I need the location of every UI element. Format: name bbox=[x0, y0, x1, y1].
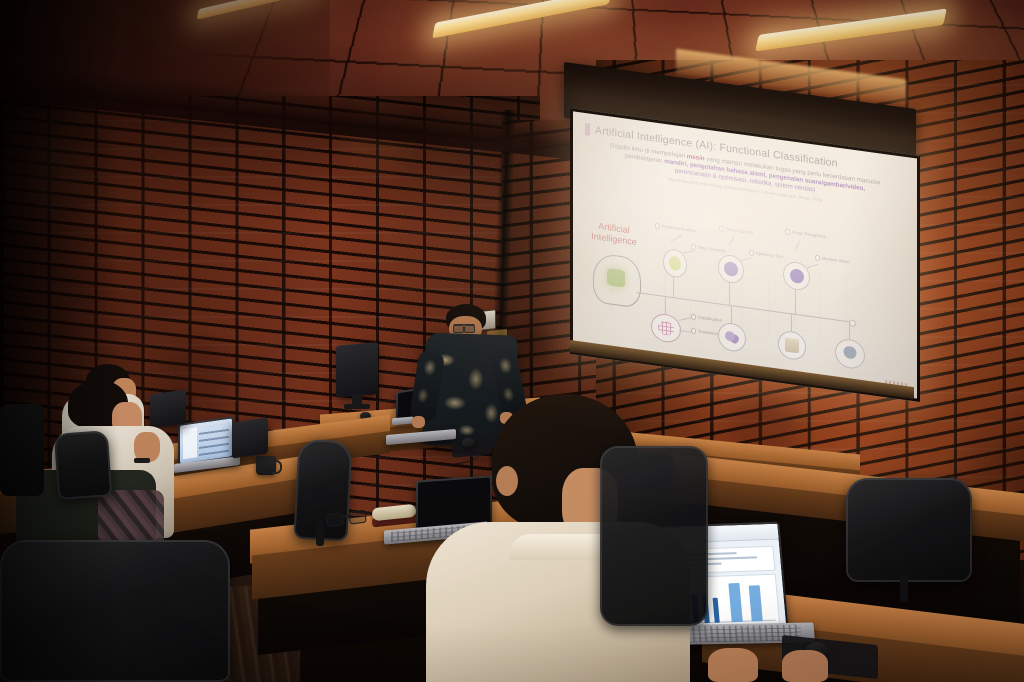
chair-stem bbox=[316, 520, 324, 546]
foreground-chair[interactable] bbox=[600, 446, 708, 626]
eyeglass-lens-right bbox=[348, 510, 366, 525]
presenter-glasses bbox=[453, 324, 475, 331]
bubble-fill bbox=[790, 268, 804, 284]
chair-rim bbox=[600, 446, 708, 626]
chair-rim bbox=[846, 478, 972, 582]
leaf-deep-learning: Deep Learning bbox=[691, 244, 725, 254]
leaf-bullet bbox=[815, 255, 820, 261]
leaf-bullet bbox=[691, 328, 696, 334]
leaf-predictive-analytics: Predictive Analytics bbox=[655, 223, 697, 234]
leaf-translation: Translation bbox=[691, 328, 718, 337]
bubble-fill bbox=[669, 255, 681, 271]
coffee-mug[interactable] bbox=[256, 456, 276, 475]
brain-chip-icon bbox=[607, 268, 625, 287]
leaf-label: Deep Learning bbox=[698, 245, 725, 254]
student-ear bbox=[496, 466, 518, 496]
leader-line bbox=[683, 250, 695, 253]
leaf-machine-vision: Machine Vision bbox=[815, 255, 850, 265]
chart-bar bbox=[728, 583, 743, 622]
leader-line bbox=[795, 241, 800, 251]
leader-line bbox=[729, 236, 735, 246]
checklist-icon bbox=[785, 337, 800, 354]
chart-bar bbox=[712, 597, 720, 622]
back-monitor-mid[interactable] bbox=[232, 417, 268, 458]
leader-line bbox=[740, 257, 752, 261]
desk-monitor[interactable] bbox=[336, 342, 378, 398]
office-chair-back[interactable] bbox=[54, 430, 112, 500]
leaf-label: Predictive Analytics bbox=[662, 224, 697, 234]
student-hand-left bbox=[708, 648, 758, 682]
globe-icon bbox=[658, 320, 674, 337]
leaf-image-recognition: Image Recognition bbox=[785, 228, 826, 239]
robot-icon bbox=[842, 345, 858, 362]
leaf-label: Speech to Text bbox=[756, 250, 783, 259]
leaf-label: Translation bbox=[698, 329, 718, 337]
leader-line bbox=[807, 264, 818, 269]
leaf-bullet bbox=[655, 223, 660, 229]
chair-rim bbox=[0, 540, 230, 682]
coat-on-chair bbox=[0, 404, 44, 496]
gears-icon bbox=[725, 329, 740, 346]
leaf-label: Text to Speech bbox=[726, 226, 753, 235]
bubble-fill bbox=[724, 261, 737, 277]
chair-right-empty[interactable] bbox=[846, 478, 972, 582]
leaf-bullet bbox=[719, 226, 724, 232]
leaf-text-to-speech: Text to Speech bbox=[719, 225, 753, 235]
leaf-bullet bbox=[749, 250, 754, 256]
left-laptop-text-rows bbox=[199, 424, 229, 456]
chair-stem bbox=[900, 576, 908, 602]
leaf-label: Image Recognition bbox=[792, 229, 826, 239]
leaf-label: Machine Vision bbox=[822, 256, 850, 265]
leaf-speech-to-text: Speech to Text bbox=[749, 250, 783, 260]
student-hand-right bbox=[782, 650, 828, 682]
leaf-bullet bbox=[691, 314, 696, 320]
diagram-root-label: Artificial Intelligence bbox=[583, 219, 645, 249]
foreground-chair-left[interactable] bbox=[0, 540, 230, 682]
chair-rim bbox=[54, 430, 112, 500]
wristwatch bbox=[134, 458, 150, 463]
leaf-bullet bbox=[691, 244, 696, 250]
chart-bar bbox=[749, 585, 763, 621]
monitor-base bbox=[344, 404, 370, 409]
leader-line bbox=[671, 234, 683, 242]
projector-screen-assembly: Artificial Intelligence (AI): Functional… bbox=[556, 62, 916, 392]
leaf-bullet bbox=[785, 229, 790, 235]
classroom-scene: Artificial Intelligence (AI): Functional… bbox=[0, 0, 1024, 682]
